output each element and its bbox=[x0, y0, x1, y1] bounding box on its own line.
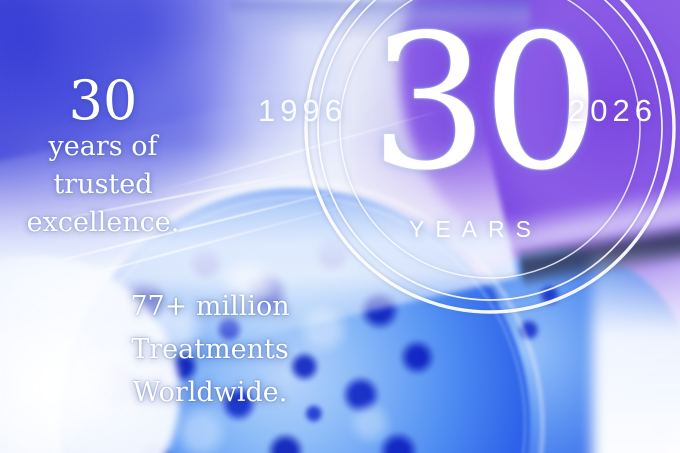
headline-block: 30 years of trusted excellence. bbox=[8, 74, 198, 241]
headline-number: 30 bbox=[8, 74, 198, 128]
emblem-year-end: 2026 bbox=[568, 93, 657, 129]
headline-line-1: years of bbox=[8, 128, 198, 166]
anniversary-banner: 30 YEARS 1996 2026 30 years of trusted e… bbox=[0, 0, 680, 453]
background-white-column-right bbox=[592, 250, 680, 453]
emblem-year-start: 1996 bbox=[258, 93, 347, 129]
headline-line-3: excellence. bbox=[8, 204, 198, 242]
stat-line-1: 77+ million bbox=[92, 285, 328, 328]
stat-line-3: Worldwide. bbox=[92, 371, 328, 414]
stat-block: 77+ million Treatments Worldwide. bbox=[92, 285, 328, 415]
emblem-number: 30 bbox=[370, 14, 570, 193]
emblem-years-label: YEARS bbox=[370, 216, 570, 243]
stat-line-2: Treatments bbox=[92, 328, 328, 371]
headline-line-2: trusted bbox=[8, 166, 198, 204]
